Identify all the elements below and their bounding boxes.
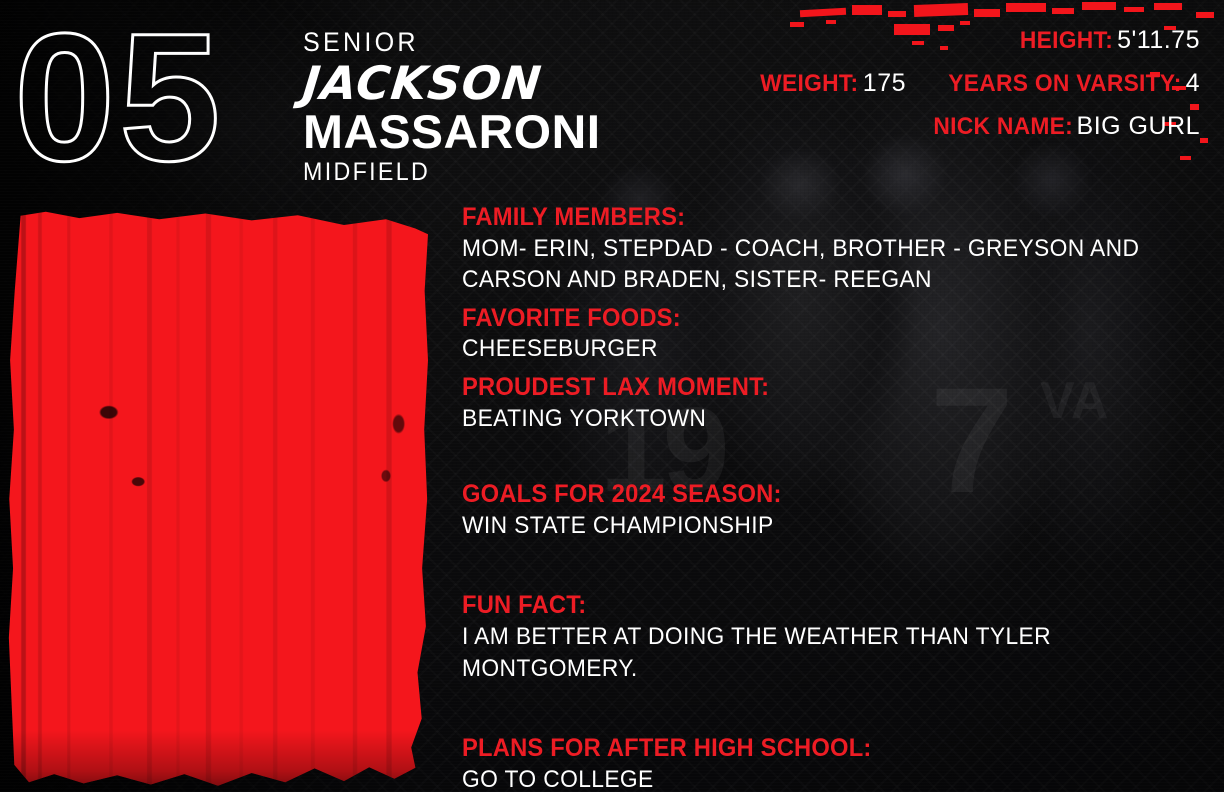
- player-first-name: JACKSON: [300, 58, 597, 110]
- player-position: MIDFIELD: [303, 158, 574, 187]
- vital-row-height: HEIGHT:5'11.75: [560, 28, 1200, 53]
- qa-plans-after-high-school: PLANS FOR AFTER HIGH SCHOOL: GO TO COLLE…: [462, 734, 1214, 792]
- player-name-block: SENIOR JACKSON MASSARONI MIDFIELD: [303, 28, 595, 187]
- qa-answer-plans-after-high-school: GO TO COLLEGE: [462, 764, 1176, 792]
- height-value: 5'11.75: [1117, 26, 1200, 54]
- qa-label-family-members: FAMILY MEMBERS:: [462, 203, 1176, 233]
- vital-row-nickname: NICK NAME:BIG GURL: [560, 114, 1200, 139]
- player-photo-paint-block: [8, 210, 428, 788]
- vital-pair-weight: WEIGHT:175: [755, 71, 906, 96]
- nickname-value: BIG GURL: [1077, 112, 1200, 140]
- qa-label-plans-after-high-school: PLANS FOR AFTER HIGH SCHOOL:: [462, 734, 1176, 764]
- player-profile-poster: 7 19 VA 05 SENIOR JACKSON: [0, 0, 1224, 792]
- height-label: HEIGHT:: [1020, 29, 1113, 53]
- qa-label-goals-for-season: GOALS FOR 2024 SEASON:: [462, 480, 1176, 510]
- qa-answer-favorite-foods: CHEESEBURGER: [462, 333, 1176, 365]
- qa-answer-family-members: MOM- ERIN, STEPDAD - COACH, BROTHER - GR…: [462, 233, 1176, 296]
- qa-favorite-foods: FAVORITE FOODS: CHEESEBURGER: [462, 304, 1214, 365]
- qa-answer-proudest-lax-moment: BEATING YORKTOWN: [462, 403, 1176, 435]
- spacer: [462, 684, 1214, 734]
- qa-answer-fun-fact: I AM BETTER AT DOING THE WEATHER THAN TY…: [462, 621, 1176, 684]
- spacer: [462, 365, 1214, 373]
- vital-pair-varsity: YEARS ON VARSITY:4: [936, 71, 1200, 96]
- vital-row-weight-varsity: WEIGHT:175YEARS ON VARSITY:4: [560, 71, 1200, 96]
- qa-answer-goals-for-season: WIN STATE CHAMPIONSHIP: [462, 510, 1176, 542]
- jersey-number: 05: [14, 14, 224, 181]
- qa-goals-for-season: GOALS FOR 2024 SEASON: WIN STATE CHAMPIO…: [462, 480, 1214, 541]
- qa-label-favorite-foods: FAVORITE FOODS:: [462, 304, 1176, 334]
- qa-label-proudest-lax-moment: PROUDEST LAX MOMENT:: [462, 373, 1176, 403]
- years-on-varsity-value: 4: [1186, 69, 1200, 97]
- years-on-varsity-label: YEARS ON VARSITY:: [948, 72, 1181, 96]
- spacer: [462, 434, 1214, 480]
- qa-fun-fact: FUN FACT: I AM BETTER AT DOING THE WEATH…: [462, 591, 1214, 684]
- spacer: [462, 541, 1214, 591]
- qa-label-fun-fact: FUN FACT:: [462, 591, 1176, 621]
- qa-family-members: FAMILY MEMBERS: MOM- ERIN, STEPDAD - COA…: [462, 203, 1214, 296]
- player-last-name: MASSARONI: [303, 108, 601, 155]
- weight-label: WEIGHT:: [761, 72, 859, 96]
- qa-proudest-lax-moment: PROUDEST LAX MOMENT: BEATING YORKTOWN: [462, 373, 1214, 434]
- weight-value: 175: [863, 69, 906, 97]
- player-profile-questions: FAMILY MEMBERS: MOM- ERIN, STEPDAD - COA…: [462, 203, 1214, 792]
- nickname-label: NICK NAME:: [933, 115, 1073, 139]
- class-year-label: SENIOR: [303, 28, 574, 56]
- player-vitals: HEIGHT:5'11.75 WEIGHT:175YEARS ON VARSIT…: [560, 28, 1200, 139]
- spacer: [462, 296, 1214, 304]
